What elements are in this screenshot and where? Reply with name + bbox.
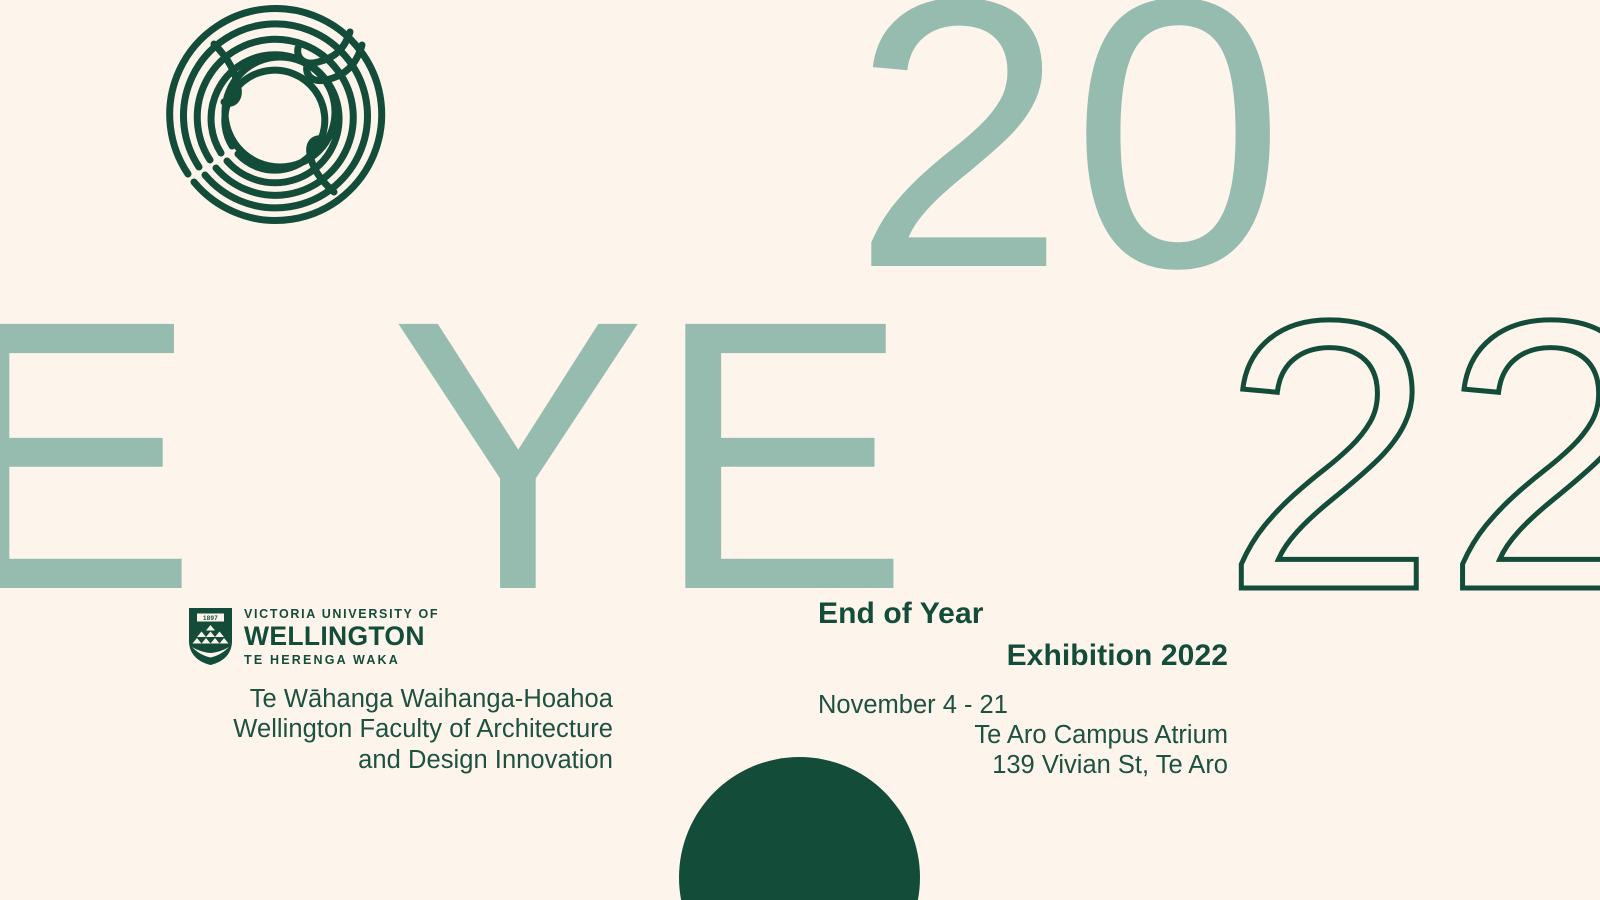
koru-spiral-icon (158, 0, 402, 234)
info-band: 1897 (0, 596, 1600, 786)
university-block: 1897 (188, 596, 613, 775)
university-line-2: WELLINGTON (244, 622, 439, 651)
faculty-line-maori: Te Wāhanga Waihanga-Hoahoa (188, 684, 613, 714)
university-line-1: VICTORIA UNIVERSITY OF (244, 608, 439, 621)
svg-text:1897: 1897 (203, 615, 218, 622)
event-title-line-1: End of Year (818, 596, 1228, 631)
event-venue: Te Aro Campus Atrium (818, 720, 1228, 750)
display-year-suffix: 22 (1222, 264, 1600, 648)
university-logo-lockup: 1897 (188, 596, 613, 667)
display-letter-e: E (0, 264, 202, 648)
faculty-line-english-2: and Design Innovation (188, 745, 613, 775)
display-letters-ye: YE (390, 264, 918, 648)
event-details-block: End of Year Exhibition 2022 November 4 -… (818, 596, 1228, 781)
faculty-name-block: Te Wāhanga Waihanga-Hoahoa Wellington Fa… (188, 684, 613, 775)
faculty-line-english-1: Wellington Faculty of Architecture (188, 714, 613, 744)
event-address: 139 Vivian St, Te Aro (818, 750, 1228, 780)
event-dates: November 4 - 21 (818, 690, 1228, 720)
event-info-lines: November 4 - 21 Te Aro Campus Atrium 139… (818, 690, 1228, 781)
university-line-3: TE HERENGA WAKA (244, 654, 439, 667)
poster-canvas: 20 E YE 22 1897 (0, 0, 1600, 900)
vuw-shield-crest-icon: 1897 (188, 607, 233, 666)
university-wordmark: VICTORIA UNIVERSITY OF WELLINGTON TE HER… (244, 596, 439, 667)
event-title-line-2: Exhibition 2022 (818, 638, 1228, 673)
